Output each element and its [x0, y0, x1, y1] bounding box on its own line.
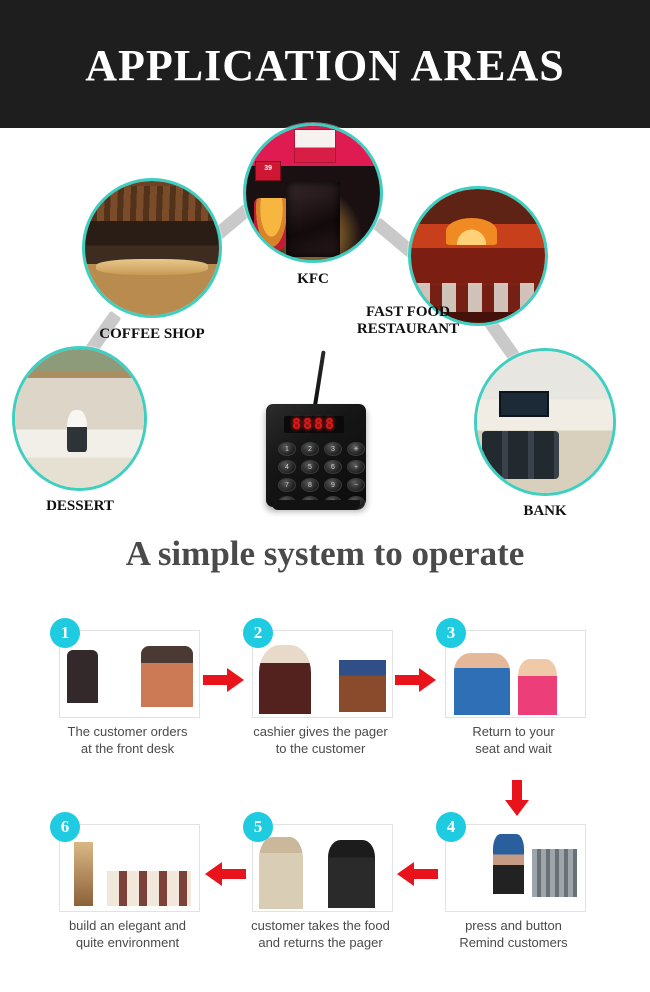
node-bank-bubble — [474, 348, 616, 496]
application-areas-diagram: 39 KFC COFFEE SHOP FAST FOOD RESTAURANT — [0, 128, 650, 530]
step-item-2[interactable]: 2 cashier gives the pager to the custome… — [243, 630, 398, 757]
step-caption-2: cashier gives the pager to the customer — [243, 724, 398, 757]
arrow-shaft — [395, 675, 421, 685]
arrow-right-2-to-3 — [395, 668, 438, 692]
fast-food-interior-photo — [411, 189, 545, 323]
arrow-down-3-to-4 — [505, 780, 529, 818]
step-item-4[interactable]: 4 press and button Remind customers — [436, 824, 591, 951]
node-coffee-label: COFFEE SHOP — [69, 326, 235, 343]
step-item-6[interactable]: 6 build an elegant and quite environment — [50, 824, 205, 951]
node-bank-label: BANK — [490, 503, 600, 520]
step-caption-3: Return to your seat and wait — [436, 724, 591, 757]
poster-page: APPLICATION AREAS 39 KFC COFFEE SHOP — [0, 0, 650, 992]
key-5[interactable]: 5 — [301, 460, 319, 474]
step-thumbnail-5 — [252, 824, 393, 912]
step-badge-6: 6 — [50, 812, 80, 842]
step-badge-1: 1 — [50, 618, 80, 648]
arrow-left-5-to-6 — [203, 862, 246, 886]
key-6[interactable]: 6 — [324, 460, 342, 474]
dessert-shop-photo — [15, 349, 144, 488]
key-star[interactable]: ✳ — [347, 442, 365, 456]
arrow-head — [397, 862, 414, 886]
steps-flow: 1 The customer orders at the front desk … — [0, 612, 650, 992]
pager-body: 8888 1 2 3 ✳ 4 5 6 + 7 8 9 − ↵ 0 ✆ — [266, 404, 366, 507]
node-kfc-bubble: 39 — [243, 123, 383, 263]
arrow-head — [205, 862, 222, 886]
step-item-5[interactable]: 5 customer takes the food and returns th… — [243, 824, 398, 951]
node-dessert-label: DESSERT — [20, 498, 140, 515]
step-caption-4: press and button Remind customers — [436, 918, 591, 951]
key-8[interactable]: 8 — [301, 478, 319, 492]
key-1[interactable]: 1 — [278, 442, 296, 456]
step-item-3[interactable]: 3 Return to your seat and wait — [436, 630, 591, 757]
key-4[interactable]: 4 — [278, 460, 296, 474]
step-badge-3: 3 — [436, 618, 466, 648]
arrow-head — [505, 800, 529, 816]
arrow-shaft — [220, 869, 246, 879]
step-caption-5: customer takes the food and returns the … — [243, 918, 398, 951]
step-thumbnail-6 — [59, 824, 200, 912]
header-banner: APPLICATION AREAS — [0, 0, 650, 128]
section-heading: A simple system to operate — [0, 534, 650, 574]
arrow-shaft — [512, 780, 522, 802]
node-coffee-bubble — [82, 178, 222, 318]
step-thumbnail-4 — [445, 824, 586, 912]
arrow-head — [227, 668, 244, 692]
arrow-left-4-to-5 — [395, 862, 438, 886]
step-badge-4: 4 — [436, 812, 466, 842]
key-3[interactable]: 3 — [324, 442, 342, 456]
kfc-storefront-photo: 39 — [246, 126, 380, 260]
page-title: APPLICATION AREAS — [0, 40, 650, 91]
step-badge-2: 2 — [243, 618, 273, 648]
key-2[interactable]: 2 — [301, 442, 319, 456]
step-thumbnail-1 — [59, 630, 200, 718]
key-7[interactable]: 7 — [278, 478, 296, 492]
key-minus[interactable]: − — [347, 478, 365, 492]
node-kfc-label: KFC — [243, 271, 383, 288]
pager-base — [272, 500, 360, 510]
arrow-head — [419, 668, 436, 692]
step-item-1[interactable]: 1 The customer orders at the front desk — [50, 630, 205, 757]
bank-lobby-photo — [477, 351, 613, 493]
step-caption-6: build an elegant and quite environment — [50, 918, 205, 951]
key-plus[interactable]: + — [347, 460, 365, 474]
led-display: 8888 — [284, 416, 344, 433]
kfc-price-sign: 39 — [255, 161, 280, 181]
arrow-shaft — [203, 675, 229, 685]
arrow-right-1-to-2 — [203, 668, 246, 692]
kfc-bucket — [254, 198, 289, 252]
step-badge-5: 5 — [243, 812, 273, 842]
arrow-shaft — [412, 869, 438, 879]
step-caption-1: The customer orders at the front desk — [50, 724, 205, 757]
key-9[interactable]: 9 — [324, 478, 342, 492]
coffee-shop-photo — [85, 181, 219, 315]
node-fast-food-label: FAST FOOD RESTAURANT — [328, 304, 488, 338]
step-thumbnail-2 — [252, 630, 393, 718]
node-dessert-bubble — [12, 346, 147, 491]
step-thumbnail-3 — [445, 630, 586, 718]
